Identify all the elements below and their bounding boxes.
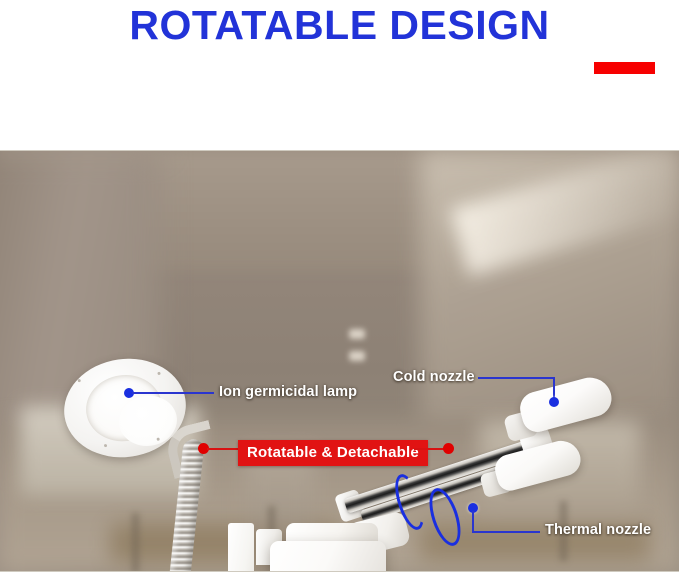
lamp-screw <box>104 444 107 447</box>
callout-label-ion-germicidal-lamp: Ion germicidal lamp <box>219 384 357 400</box>
header-band: ROTATABLE DESIGN <box>0 0 679 150</box>
infographic-page: ROTATABLE DESIGN <box>0 0 679 576</box>
badge-marker-right <box>443 443 454 454</box>
stand-pole <box>228 523 254 572</box>
rotatable-detachable-badge: Rotatable & Detachable <box>238 440 428 466</box>
lamp-screw <box>157 372 160 375</box>
callout-marker-cold-nozzle <box>549 397 559 407</box>
vent-grille <box>352 571 382 572</box>
callout-label-thermal-nozzle: Thermal nozzle <box>545 522 651 538</box>
leader-line-ion-germicidal-lamp <box>132 392 214 394</box>
machine-body <box>270 541 386 572</box>
beauty-machine-device <box>0 151 679 571</box>
product-photo: Ion germicidal lamp Cold nozzle Thermal … <box>0 150 679 572</box>
red-accent-bar <box>594 62 655 74</box>
gooseneck-arm <box>170 439 200 572</box>
badge-leader-left <box>207 448 240 450</box>
leader-line-thermal-nozzle-v <box>472 511 474 533</box>
leader-line-thermal-nozzle-h <box>472 531 540 533</box>
lamp-screw <box>78 379 81 382</box>
leader-line-cold-nozzle-h <box>478 377 555 379</box>
magnifier-lens <box>82 370 166 446</box>
cold-nozzle <box>516 373 615 435</box>
callout-label-cold-nozzle: Cold nozzle <box>393 369 475 385</box>
page-title: ROTATABLE DESIGN <box>0 2 679 49</box>
